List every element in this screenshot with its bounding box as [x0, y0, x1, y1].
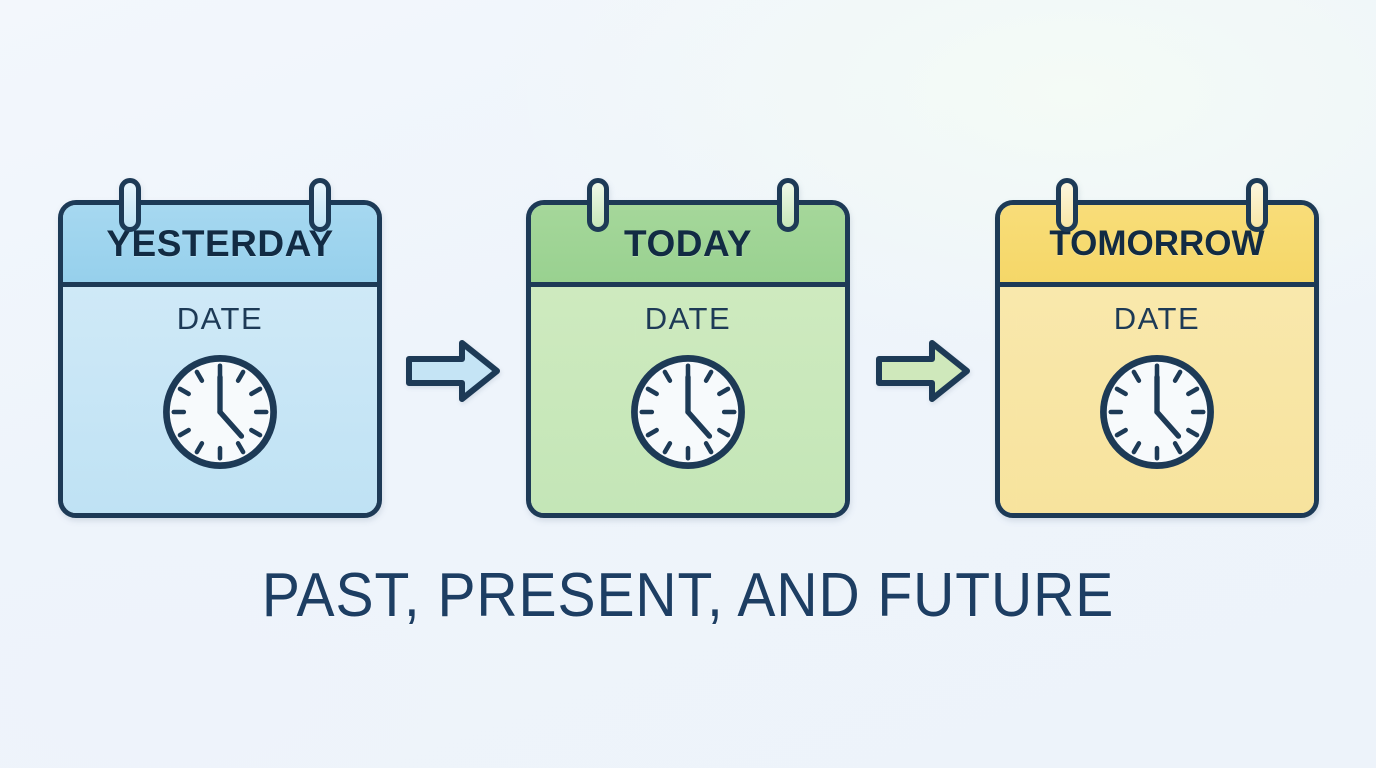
- clock-icon: [621, 345, 755, 479]
- calendar-inner: TODAY DATE: [531, 205, 845, 513]
- binder-ring-icon: [1246, 178, 1268, 232]
- binder-ring-icon: [1056, 178, 1078, 232]
- calendar-inner: YESTERDAY DATE: [63, 205, 377, 513]
- date-label: DATE: [177, 301, 263, 337]
- binder-ring-icon: [309, 178, 331, 232]
- calendar-title-label: TODAY: [624, 223, 752, 265]
- calendar-card-tomorrow[interactable]: TOMORROW DATE: [995, 200, 1319, 518]
- binder-ring-icon: [587, 178, 609, 232]
- binder-ring-icon: [119, 178, 141, 232]
- calendar-body-yesterday: DATE: [63, 287, 377, 513]
- calendar-body-today: DATE: [531, 287, 845, 513]
- clock-icon: [153, 345, 287, 479]
- calendar-inner: TOMORROW DATE: [1000, 205, 1314, 513]
- calendar-body-tomorrow: DATE: [1000, 287, 1314, 513]
- date-label: DATE: [1114, 301, 1200, 337]
- arrow-right-icon: [404, 337, 502, 405]
- date-label: DATE: [645, 301, 731, 337]
- calendar-title-label: YESTERDAY: [106, 223, 333, 265]
- caption-text: PAST, PRESENT, AND FUTURE: [55, 560, 1321, 631]
- binder-ring-icon: [777, 178, 799, 232]
- arrow-right-icon: [874, 337, 972, 405]
- calendar-title-label: TOMORROW: [1049, 224, 1264, 264]
- calendar-card-today[interactable]: TODAY DATE: [526, 200, 850, 518]
- calendar-card-yesterday[interactable]: YESTERDAY DATE: [58, 200, 382, 518]
- infographic-canvas: YESTERDAY DATE: [0, 0, 1376, 768]
- calendar-row: YESTERDAY DATE: [0, 170, 1376, 530]
- clock-icon: [1090, 345, 1224, 479]
